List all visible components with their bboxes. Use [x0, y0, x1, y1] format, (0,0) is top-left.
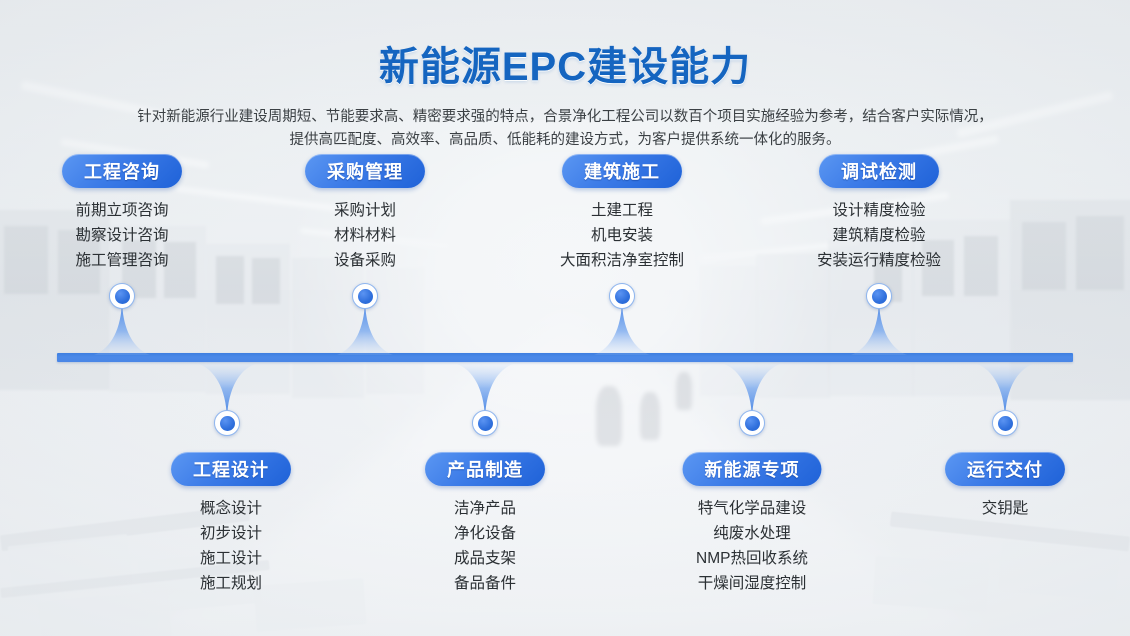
list-item: 施工管理咨询: [75, 248, 168, 273]
node-items-bottom-1: 概念设计 初步设计 施工设计 施工规划: [200, 496, 262, 596]
list-item: 洁净产品: [454, 496, 516, 521]
list-item: 成品支架: [454, 546, 516, 571]
list-item: 纯废水处理: [696, 521, 808, 546]
timeline-node-dot[interactable]: [866, 283, 892, 309]
list-item: 施工规划: [200, 571, 262, 596]
list-item: 大面积洁净室控制: [560, 248, 684, 273]
subtitle-line: 针对新能源行业建设周期短、节能要求高、精密要求强的特点，合景净化工程公司以数百个…: [75, 106, 1055, 129]
node-items-top-4: 设计精度检验 建筑精度检验 安装运行精度检验: [817, 198, 941, 273]
infographic-stage: 新能源EPC建设能力 针对新能源行业建设周期短、节能要求高、精密要求强的特点，合…: [0, 0, 1130, 636]
list-item: 净化设备: [454, 521, 516, 546]
list-item: 备品备件: [454, 571, 516, 596]
timeline-node-dot[interactable]: [472, 410, 498, 436]
list-item: 初步设计: [200, 521, 262, 546]
connector-funnel-top: [335, 302, 395, 356]
list-item: 概念设计: [200, 496, 262, 521]
node-pill-bottom-4[interactable]: 运行交付: [945, 452, 1065, 486]
node-items-top-1: 前期立项咨询 勘察设计咨询 施工管理咨询: [75, 198, 168, 273]
list-item: 安装运行精度检验: [817, 248, 941, 273]
node-items-bottom-4: 交钥匙: [982, 496, 1029, 521]
list-item: 设计精度检验: [817, 198, 941, 223]
list-item: 干燥间湿度控制: [696, 571, 808, 596]
node-pill-bottom-2[interactable]: 产品制造: [425, 452, 545, 486]
timeline-node-dot[interactable]: [739, 410, 765, 436]
subtitle-line: 提供高匹配度、高效率、高品质、低能耗的建设方式，为客户提供系统一体化的服务。: [75, 129, 1055, 152]
timeline-node-dot[interactable]: [214, 410, 240, 436]
node-items-top-2: 采购计划 材料材料 设备采购: [334, 198, 396, 273]
timeline-axis: [57, 353, 1073, 362]
list-item: 材料材料: [334, 223, 396, 248]
list-item: 机电安装: [560, 223, 684, 248]
timeline-node-dot[interactable]: [609, 283, 635, 309]
node-pill-top-2[interactable]: 采购管理: [305, 154, 425, 188]
list-item: 施工设计: [200, 546, 262, 571]
list-item: 设备采购: [334, 248, 396, 273]
node-pill-top-3[interactable]: 建筑施工: [562, 154, 682, 188]
node-items-bottom-3: 特气化学品建设 纯废水处理 NMP热回收系统 干燥间湿度控制: [696, 496, 808, 596]
list-item: 勘察设计咨询: [75, 223, 168, 248]
connector-funnel-top: [849, 302, 909, 356]
timeline-node-dot[interactable]: [992, 410, 1018, 436]
list-item: 前期立项咨询: [75, 198, 168, 223]
page-subtitle: 针对新能源行业建设周期短、节能要求高、精密要求强的特点，合景净化工程公司以数百个…: [75, 106, 1055, 152]
timeline-node-dot[interactable]: [109, 283, 135, 309]
list-item: 采购计划: [334, 198, 396, 223]
node-items-bottom-2: 洁净产品 净化设备 成品支架 备品备件: [454, 496, 516, 596]
node-pill-top-4[interactable]: 调试检测: [819, 154, 939, 188]
page-title: 新能源EPC建设能力: [0, 34, 1130, 92]
node-items-top-3: 土建工程 机电安装 大面积洁净室控制: [560, 198, 684, 273]
timeline-node-dot[interactable]: [352, 283, 378, 309]
list-item: NMP热回收系统: [696, 546, 808, 571]
list-item: 建筑精度检验: [817, 223, 941, 248]
connector-funnel-top: [92, 302, 152, 356]
list-item: 特气化学品建设: [696, 496, 808, 521]
node-pill-bottom-3[interactable]: 新能源专项: [683, 452, 822, 486]
node-pill-bottom-1[interactable]: 工程设计: [171, 452, 291, 486]
node-pill-top-1[interactable]: 工程咨询: [62, 154, 182, 188]
list-item: 交钥匙: [982, 496, 1029, 521]
list-item: 土建工程: [560, 198, 684, 223]
connector-funnel-top: [592, 302, 652, 356]
header: 新能源EPC建设能力 针对新能源行业建设周期短、节能要求高、精密要求强的特点，合…: [0, 0, 1130, 152]
